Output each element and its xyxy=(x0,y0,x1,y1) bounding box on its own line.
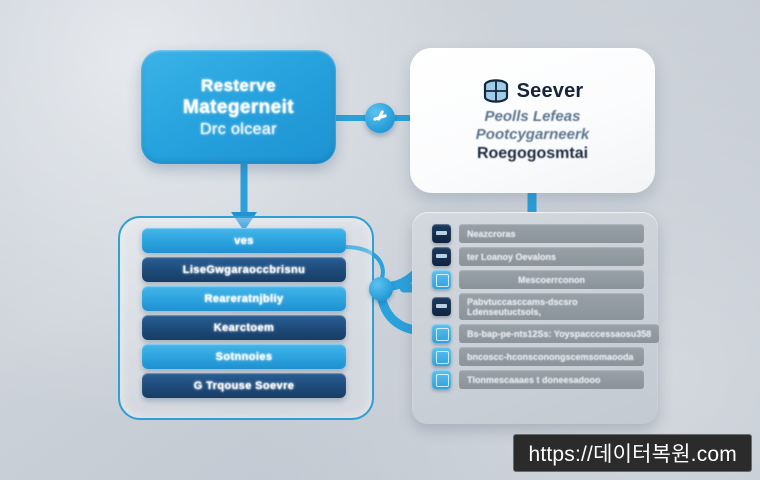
table-row[interactable]: Pabvtuccasccams-dscsro Ldenseutuctsols, xyxy=(432,293,644,320)
table-row[interactable]: bncoscc-hconsconongscemsomaooda xyxy=(432,347,644,366)
row-content: Neazcroras xyxy=(459,224,644,243)
blue-box-line1: Resterve xyxy=(201,76,276,96)
blue-square-icon xyxy=(432,370,451,389)
row-text: Neazcroras xyxy=(467,229,636,239)
row-text: Mescoerrconon xyxy=(518,275,585,285)
details-row-list: Neazcroras ter Loanoy Oevalons Mescoerrc… xyxy=(432,224,644,393)
row-text: Bs-bap-pe-nts12Ss: Yoyspacccessaosu358 xyxy=(467,329,651,339)
server-card[interactable]: Seever Peolls Lefeas Pootcygarneerk Roeg… xyxy=(410,48,655,193)
watermark-text: https://데이터복원.com xyxy=(528,438,737,468)
junction-node-icon xyxy=(369,277,393,301)
row-text-second: Ldenseutuctsols, xyxy=(467,307,636,317)
list-item[interactable]: Reareratnjbliy xyxy=(142,286,346,311)
table-row[interactable]: Neazcroras xyxy=(432,224,644,243)
row-content: Mescoerrconon xyxy=(459,270,644,289)
card-sub1: Peolls Lefeas xyxy=(485,108,581,125)
row-content: Pabvtuccasccams-dscsro Ldenseutuctsols, xyxy=(459,293,644,320)
watermark: https://데이터복원.com xyxy=(513,434,752,472)
card-header: Seever xyxy=(482,79,584,105)
resource-management-box[interactable]: Resterve Mategerneit Drc olcear xyxy=(141,50,336,164)
arrow-node-icon xyxy=(365,103,395,133)
table-row[interactable]: Bs-bap-pe-nts12Ss: Yoyspacccessaosu358 xyxy=(432,324,644,343)
card-sub2: Pootcygarneerk xyxy=(476,126,589,143)
table-row[interactable]: Mescoerrconon xyxy=(432,270,644,289)
bar-label: Kearctoem xyxy=(214,322,274,334)
list-item[interactable]: LiseGwgaraoccbrisnu xyxy=(142,257,346,282)
diagram-canvas: Resterve Mategerneit Drc olcear Seever P… xyxy=(0,0,760,480)
blue-box-line3: Drc olcear xyxy=(200,121,277,139)
table-row[interactable]: ter Loanoy Oevalons xyxy=(432,247,644,266)
card-title: Seever xyxy=(517,80,584,103)
blue-box-line2: Mategerneit xyxy=(183,97,294,119)
list-item[interactable]: ves xyxy=(142,228,346,253)
row-text: ter Loanoy Oevalons xyxy=(467,252,636,262)
row-content: Bs-bap-pe-nts12Ss: Yoyspacccessaosu358 xyxy=(459,324,659,343)
blue-square-icon xyxy=(432,324,451,343)
bar-label: ves xyxy=(234,235,254,247)
blue-square-icon xyxy=(432,347,451,366)
row-text: Pabvtuccasccams-dscsro xyxy=(467,297,636,307)
navy-doc-icon xyxy=(432,247,451,266)
bar-label: Reareratnjbliy xyxy=(205,293,284,305)
row-text: bncoscc-hconsconongscemsomaooda xyxy=(467,352,636,362)
details-panel: Neazcroras ter Loanoy Oevalons Mescoerrc… xyxy=(412,212,658,424)
bar-label: Sotnnoies xyxy=(216,351,273,363)
table-row[interactable]: Tlonmescaaaes t doneesadooo xyxy=(432,370,644,389)
navy-doc-icon xyxy=(432,297,451,316)
list-item[interactable]: Sotnnoies xyxy=(142,344,346,369)
row-content: Tlonmescaaaes t doneesadooo xyxy=(459,370,644,389)
row-text: Tlonmescaaaes t doneesadooo xyxy=(467,375,636,385)
row-content: ter Loanoy Oevalons xyxy=(459,247,644,266)
card-sub3: Roegogosmtai xyxy=(477,145,588,163)
blue-square-icon xyxy=(432,270,451,289)
bar-label: G Trqouse Soevre xyxy=(194,380,295,392)
navy-doc-icon xyxy=(432,224,451,243)
database-icon xyxy=(482,79,510,105)
list-item[interactable]: G Trqouse Soevre xyxy=(142,373,346,398)
bar-label: LiseGwgaraoccbrisnu xyxy=(183,264,306,276)
bar-list: ves LiseGwgaraoccbrisnu Reareratnjbliy K… xyxy=(142,228,346,402)
list-item[interactable]: Kearctoem xyxy=(142,315,346,340)
row-content: bncoscc-hconsconongscemsomaooda xyxy=(459,347,644,366)
